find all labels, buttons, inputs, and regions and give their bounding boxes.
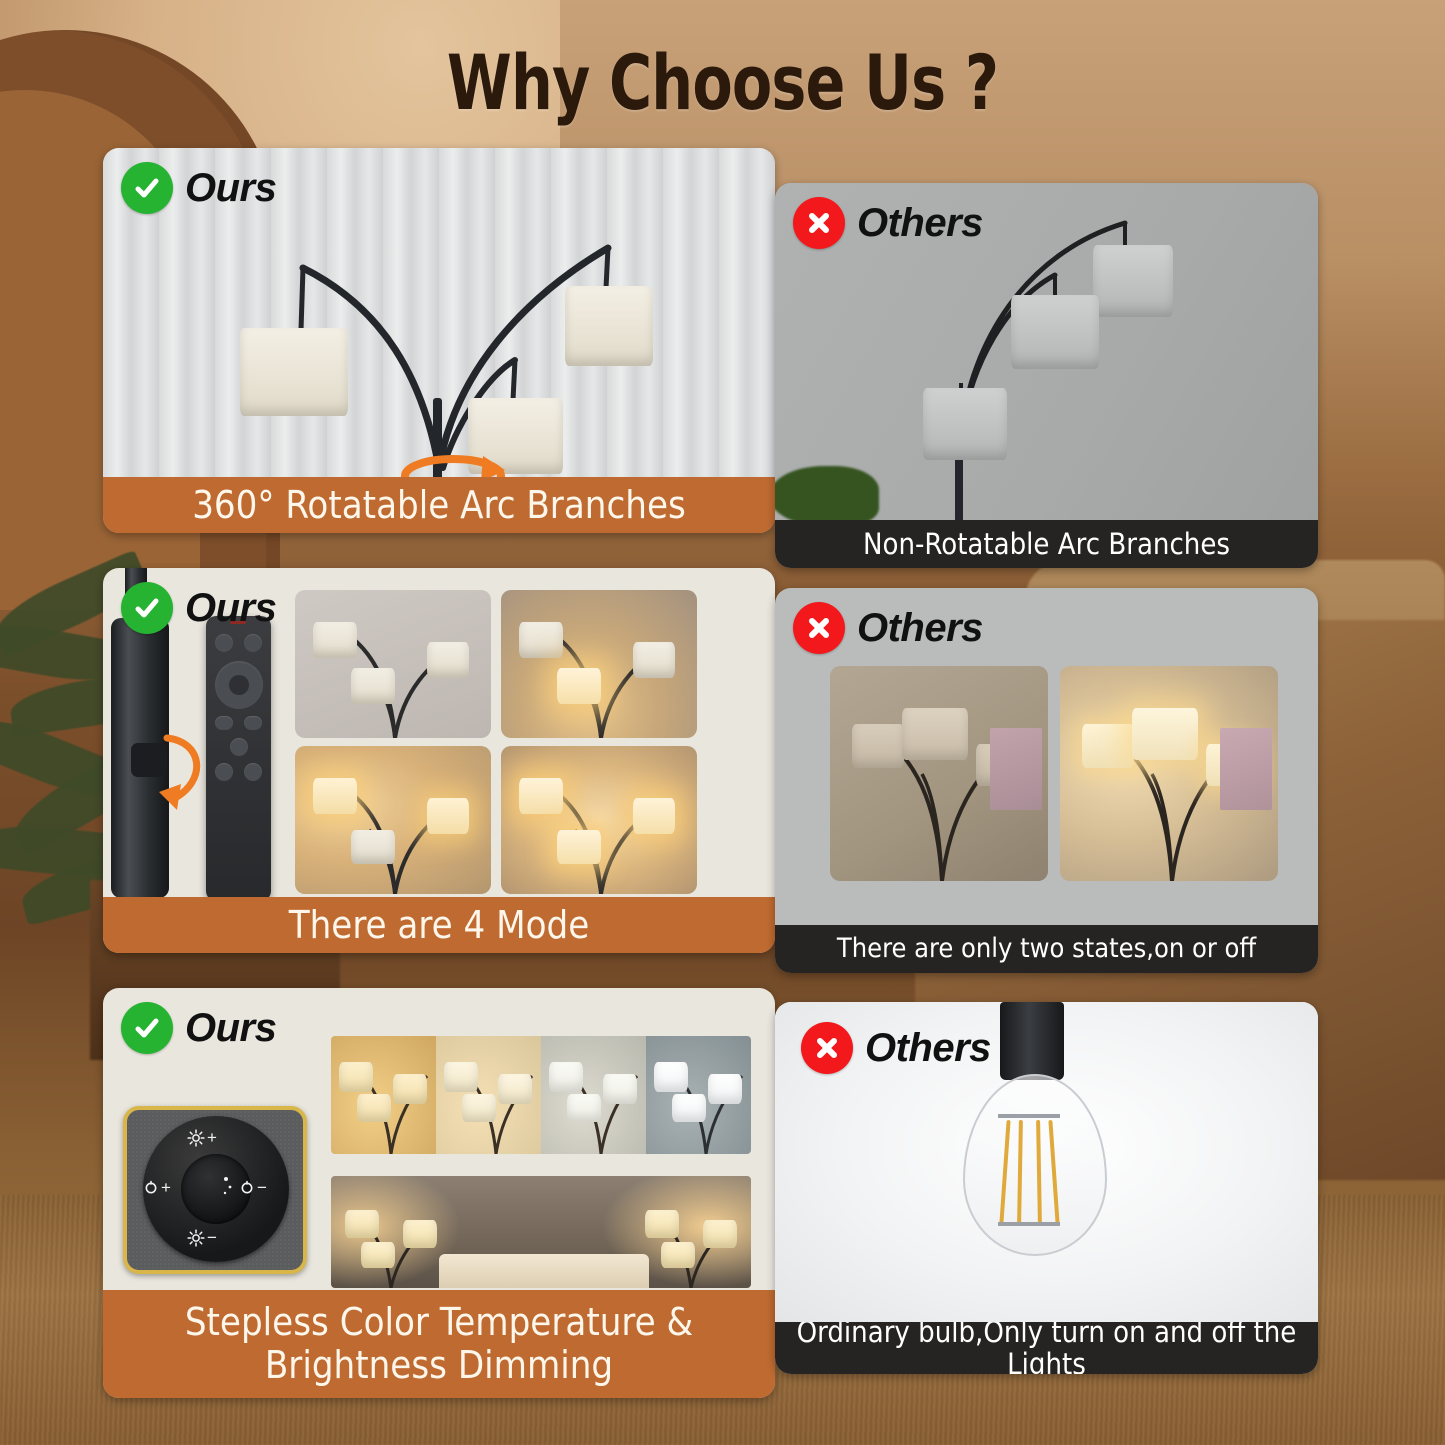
row1-ours-panel: Ours 360° Rotatable Arc Branches <box>103 148 775 533</box>
comparison-grid: Ours 360° Rotatable Arc Branches <box>103 148 1318 1398</box>
row2-others-content: Others <box>775 588 1318 925</box>
sun-icon <box>187 1229 205 1247</box>
row2-ours-badge-row: Ours <box>121 582 276 634</box>
row2-others-caption: There are only two states,on or off <box>775 925 1318 973</box>
remote-30min-button[interactable] <box>215 716 233 730</box>
remote-timer-button[interactable] <box>215 634 233 652</box>
dimmer-control-pad[interactable]: + − <box>123 1106 307 1274</box>
plant-corner <box>775 466 879 520</box>
color-temperature-strip <box>331 1036 751 1154</box>
other-shade-top <box>1093 245 1173 317</box>
rotation-arrow-icon <box>383 426 523 477</box>
row3-others-badge-row: Others <box>801 1022 991 1074</box>
ct-step-3 <box>541 1036 646 1154</box>
row1-others-photo: Others <box>775 183 1318 520</box>
row1-ours-badge-row: Ours <box>121 162 276 214</box>
row1-others-panel: Others Non-Rotatable Arc Branches <box>775 183 1318 568</box>
row3-others-panel: Others Ordinary bulb,Only turn on and of… <box>775 1002 1318 1374</box>
row3-ours-caption: Stepless Color Temperature & Brightness … <box>103 1290 775 1398</box>
ct-step-4 <box>646 1036 751 1154</box>
pad-minus-right: − <box>257 1178 267 1198</box>
remote-power-button[interactable] <box>244 634 262 652</box>
pad-plus-top: + <box>207 1128 217 1148</box>
row3-ours-badge-row: Ours <box>121 1002 276 1054</box>
row3-ours-content: + − <box>103 988 775 1290</box>
comparison-row-3: + − <box>103 988 1318 1398</box>
lamp-shade-right <box>565 286 653 366</box>
color-temp-icon <box>143 1180 159 1196</box>
lamp-shade-left <box>240 328 348 416</box>
living-room-photo <box>331 1176 751 1288</box>
mode-tile-1 <box>295 590 491 738</box>
row1-ours-caption: 360° Rotatable Arc Branches <box>103 477 775 533</box>
ct-step-2 <box>436 1036 541 1154</box>
check-circle-icon <box>121 582 173 634</box>
mode-tile-3 <box>295 746 491 894</box>
remote-mode3-button[interactable] <box>244 763 262 781</box>
cross-circle-icon <box>793 602 845 654</box>
pad-brightness-up-label: + <box>187 1128 217 1148</box>
other-shade-mid <box>1011 295 1099 369</box>
row2-ours-panel: Ours There are 4 Mode <box>103 568 775 953</box>
row2-ours-label: Ours <box>185 588 276 628</box>
row1-ours-label: Ours <box>185 168 276 208</box>
remote-mode1-button[interactable] <box>230 738 248 756</box>
row2-ours-content: Ours <box>103 568 775 897</box>
remote-control[interactable] <box>206 616 271 897</box>
state-tile-off <box>830 666 1048 881</box>
bulb-filament-bridge-top <box>998 1114 1060 1118</box>
remote-60min-button[interactable] <box>244 716 262 730</box>
comparison-row-2: Ours There are 4 Mode <box>103 568 1318 953</box>
cross-circle-icon <box>801 1022 853 1074</box>
row2-ours-caption: There are 4 Mode <box>103 897 775 953</box>
state-tile-on <box>1060 666 1278 881</box>
pad-warmth-up-label: + <box>143 1178 171 1198</box>
mode-tile-4 <box>501 746 697 894</box>
remote-mode2-button[interactable] <box>215 763 233 781</box>
mode-tile-2 <box>501 590 697 738</box>
page-title: Why Choose Us ? <box>101 38 1344 127</box>
remote-night-button[interactable] <box>229 675 249 695</box>
sun-icon <box>187 1129 205 1147</box>
row2-others-badge-row: Others <box>793 602 983 654</box>
moon-stars-icon <box>196 1169 236 1209</box>
check-circle-icon <box>121 1002 173 1054</box>
row3-ours-panel: + − <box>103 988 775 1398</box>
row3-ours-label: Ours <box>185 1008 276 1048</box>
remote-dial[interactable] <box>215 661 263 709</box>
row1-others-badge-row: Others <box>793 197 983 249</box>
pad-minus-bottom: − <box>207 1228 217 1248</box>
color-temp-icon <box>239 1180 255 1196</box>
row2-others-label: Others <box>857 608 983 648</box>
row3-ours-caption-line1: Stepless Color Temperature & <box>185 1301 693 1344</box>
row1-others-label: Others <box>857 203 983 243</box>
pad-plus-left: + <box>161 1178 171 1198</box>
ct-step-1 <box>331 1036 436 1154</box>
row3-others-caption: Ordinary bulb,Only turn on and off the L… <box>775 1322 1318 1374</box>
bulb-base <box>1000 1002 1064 1080</box>
comparison-row-1: Ours 360° Rotatable Arc Branches <box>103 148 1318 533</box>
row3-others-label: Others <box>865 1028 991 1068</box>
check-circle-icon <box>121 162 173 214</box>
other-shade-low <box>923 388 1007 460</box>
bulb-filament-bridge-bottom <box>998 1222 1060 1226</box>
row1-others-caption: Non-Rotatable Arc Branches <box>775 520 1318 568</box>
pad-brightness-down-label: − <box>187 1228 217 1248</box>
cross-circle-icon <box>793 197 845 249</box>
row1-ours-photo: Ours <box>103 148 775 477</box>
row3-ours-caption-line2: Brightness Dimming <box>185 1344 693 1387</box>
row3-others-photo: Others <box>775 1002 1318 1322</box>
pad-warmth-down-label: − <box>239 1178 267 1198</box>
row2-others-panel: Others There are only two states,on or o… <box>775 588 1318 973</box>
